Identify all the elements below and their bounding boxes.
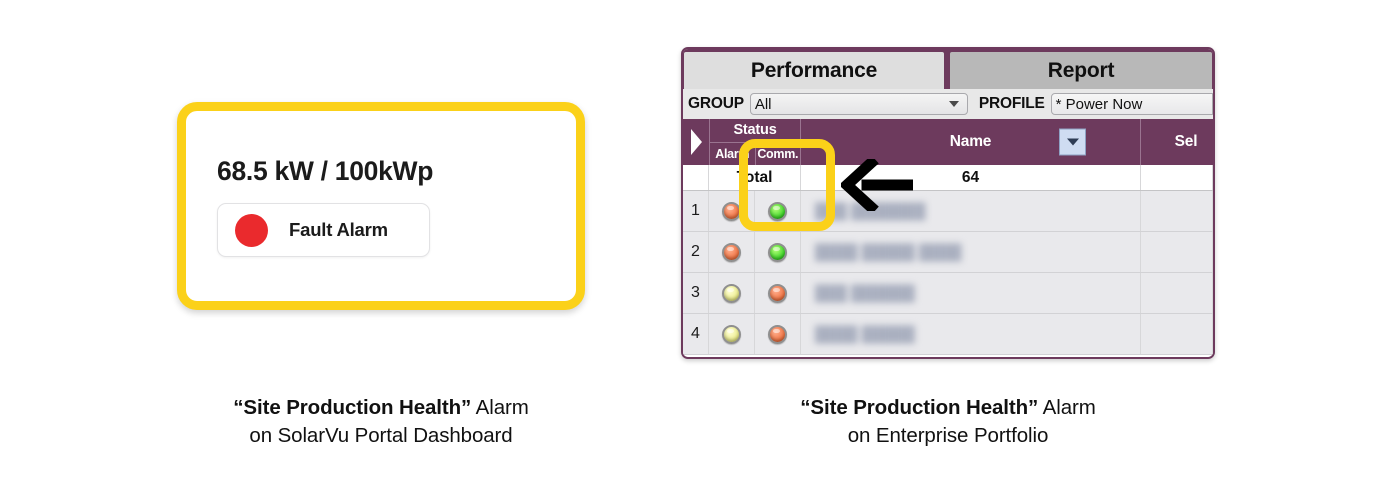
comm-status-cell[interactable] bbox=[755, 232, 801, 272]
profile-select-value: * Power Now bbox=[1056, 96, 1143, 113]
caption-right-quoted: “Site Production Health” bbox=[800, 396, 1038, 419]
select-cell[interactable] bbox=[1141, 232, 1213, 272]
site-name-cell[interactable]: ████ █████ ████ bbox=[801, 232, 1141, 272]
caption-left-line2: on SolarVu Portal Dashboard bbox=[249, 424, 512, 447]
comm-led-icon bbox=[768, 202, 787, 221]
name-column-header[interactable]: Name bbox=[801, 119, 1141, 165]
alarm-led-icon bbox=[722, 325, 741, 344]
caption-right: “Site Production Health” Alarm on Enterp… bbox=[748, 394, 1148, 450]
triangle-right-icon bbox=[691, 129, 702, 155]
fault-alarm-led-icon bbox=[235, 214, 268, 247]
row-index: 4 bbox=[683, 314, 709, 354]
status-column-header: Status Alarm Comm. bbox=[709, 119, 801, 165]
name-sort-button[interactable] bbox=[1059, 129, 1086, 156]
profile-select[interactable]: * Power Now bbox=[1051, 93, 1213, 115]
alarm-status-cell[interactable] bbox=[709, 191, 755, 231]
comm-status-cell[interactable] bbox=[755, 314, 801, 354]
site-name-redacted: ████ █████ bbox=[815, 326, 915, 343]
comm-led-icon bbox=[768, 243, 787, 262]
alarm-column-header[interactable]: Alarm bbox=[710, 143, 755, 166]
alarm-status-cell[interactable] bbox=[709, 314, 755, 354]
table-row[interactable]: 3 ███ ██████ bbox=[683, 273, 1213, 314]
status-subheader-row: Alarm Comm. bbox=[710, 142, 800, 166]
caption-left-quoted: “Site Production Health” bbox=[233, 396, 471, 419]
row-index: 2 bbox=[683, 232, 709, 272]
profile-label: PROFILE bbox=[979, 95, 1045, 113]
comm-column-header[interactable]: Comm. bbox=[755, 143, 801, 166]
name-header-label: Name bbox=[950, 133, 991, 151]
comm-status-cell[interactable] bbox=[755, 191, 801, 231]
total-label: Total bbox=[709, 165, 801, 190]
caption-right-line2: on Enterprise Portfolio bbox=[848, 424, 1049, 447]
alarm-status-cell[interactable] bbox=[709, 273, 755, 313]
site-name-redacted: ███ ██████ bbox=[815, 285, 915, 302]
select-cell[interactable] bbox=[1141, 314, 1213, 354]
power-readout: 68.5 kW / 100kWp bbox=[217, 156, 433, 187]
expand-column-header[interactable] bbox=[683, 119, 709, 165]
fault-alarm-label: Fault Alarm bbox=[289, 219, 388, 241]
enterprise-portfolio-panel: Performance Report GROUP All PROFILE * P… bbox=[681, 47, 1215, 359]
group-label: GROUP bbox=[688, 95, 744, 113]
alarm-status-cell[interactable] bbox=[709, 232, 755, 272]
comm-led-icon bbox=[768, 284, 787, 303]
site-name-cell[interactable]: ███ ███████ bbox=[801, 191, 1141, 231]
portfolio-window: Performance Report GROUP All PROFILE * P… bbox=[681, 47, 1215, 359]
tab-strip: Performance Report bbox=[683, 49, 1213, 89]
caption-left: “Site Production Health” Alarm on SolarV… bbox=[181, 394, 581, 450]
group-select-value: All bbox=[755, 96, 772, 113]
comm-led-icon bbox=[768, 325, 787, 344]
chevron-down-icon bbox=[949, 101, 959, 107]
caption-right-suffix: Alarm bbox=[1038, 396, 1096, 419]
row-index: 1 bbox=[683, 191, 709, 231]
group-select[interactable]: All bbox=[750, 93, 968, 115]
select-cell[interactable] bbox=[1141, 191, 1213, 231]
total-select-value bbox=[1141, 165, 1213, 190]
filter-bar: GROUP All PROFILE * Power Now bbox=[683, 89, 1213, 119]
alarm-led-icon bbox=[722, 284, 741, 303]
table-row[interactable]: 2 ████ █████ ████ bbox=[683, 232, 1213, 273]
row-index: 3 bbox=[683, 273, 709, 313]
chevron-down-icon bbox=[1067, 139, 1079, 146]
site-name-cell[interactable]: ███ ██████ bbox=[801, 273, 1141, 313]
comm-status-cell[interactable] bbox=[755, 273, 801, 313]
site-name-redacted: ████ █████ ████ bbox=[815, 244, 962, 261]
site-name-redacted: ███ ███████ bbox=[815, 203, 925, 220]
status-header-label: Status bbox=[710, 119, 800, 142]
select-cell[interactable] bbox=[1141, 273, 1213, 313]
alarm-led-icon bbox=[722, 243, 741, 262]
table-row[interactable]: 1 ███ ███████ bbox=[683, 191, 1213, 232]
select-column-header[interactable]: Sel bbox=[1141, 119, 1213, 165]
total-row-spacer bbox=[683, 165, 709, 190]
table-total-row: Total 64 bbox=[683, 165, 1213, 191]
table-header-row: Status Alarm Comm. Name Sel bbox=[683, 119, 1213, 165]
solarvu-dashboard-panel: 68.5 kW / 100kWp Fault Alarm bbox=[177, 102, 585, 310]
portfolio-table: Status Alarm Comm. Name Sel Total bbox=[683, 119, 1213, 357]
tab-performance[interactable]: Performance bbox=[683, 51, 945, 89]
site-name-cell[interactable]: ████ █████ bbox=[801, 314, 1141, 354]
alarm-led-icon bbox=[722, 202, 741, 221]
caption-left-suffix: Alarm bbox=[471, 396, 529, 419]
total-count: 64 bbox=[801, 165, 1141, 190]
dashboard-card-highlight: 68.5 kW / 100kWp Fault Alarm bbox=[177, 102, 585, 310]
tab-report[interactable]: Report bbox=[949, 51, 1213, 89]
fault-alarm-button[interactable]: Fault Alarm bbox=[217, 203, 430, 257]
table-row[interactable]: 4 ████ █████ bbox=[683, 314, 1213, 355]
